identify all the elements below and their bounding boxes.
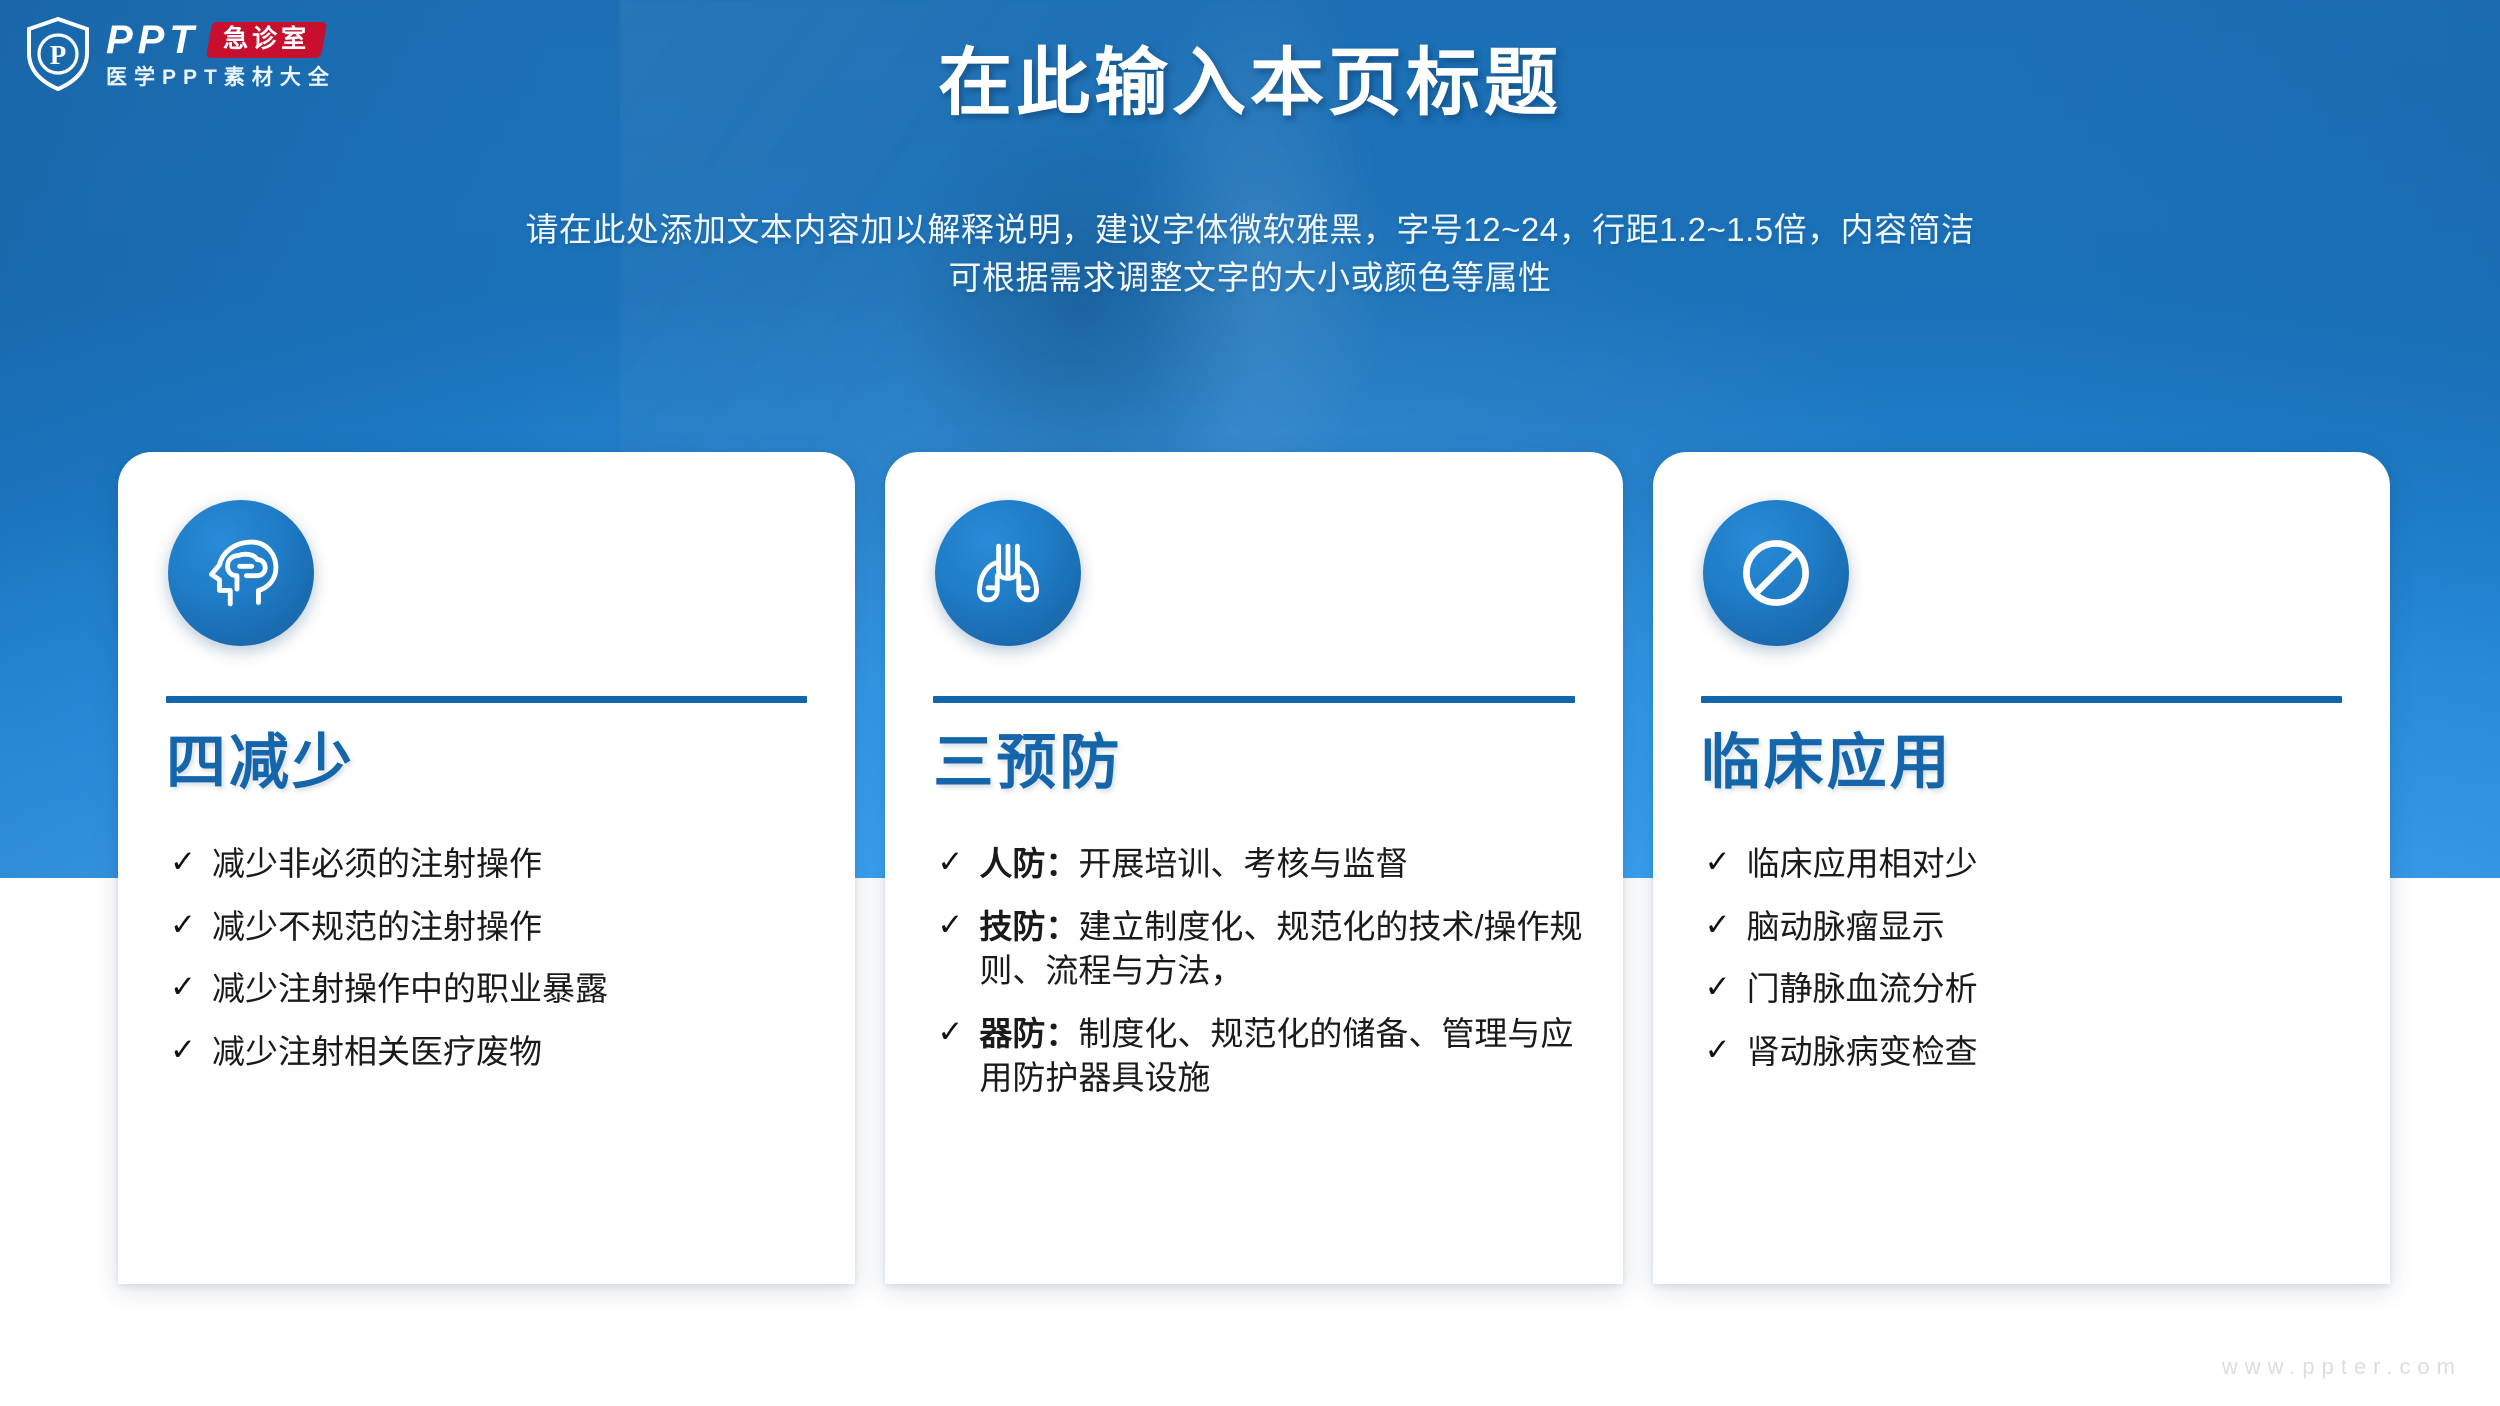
card-divider bbox=[166, 696, 807, 703]
check-icon: ✓ bbox=[937, 842, 979, 884]
check-icon: ✓ bbox=[170, 842, 212, 884]
list-item-label: 人防： bbox=[979, 845, 1078, 882]
check-icon: ✓ bbox=[937, 1012, 979, 1054]
head-brain-icon bbox=[168, 500, 314, 646]
list-item: ✓ 技防：建立制度化、规范化的技术/操作规则、流程与方法， bbox=[937, 905, 1586, 994]
prohibition-icon bbox=[1703, 500, 1849, 646]
lungs-icon bbox=[935, 500, 1081, 646]
list-item-text: 减少注射相关医疗废物 bbox=[212, 1030, 819, 1075]
check-icon: ✓ bbox=[170, 905, 212, 947]
check-icon: ✓ bbox=[1705, 1030, 1747, 1072]
footer-watermark: www.ppter.com bbox=[2222, 1354, 2462, 1380]
list-item: ✓ 减少注射相关医疗废物 bbox=[170, 1030, 819, 1075]
list-item-text: 脑动脉瘤显示 bbox=[1747, 905, 2354, 950]
check-icon: ✓ bbox=[170, 967, 212, 1009]
list-item-text: 减少注射操作中的职业暴露 bbox=[212, 967, 819, 1012]
list-item-label: 器防： bbox=[979, 1015, 1078, 1052]
card-divider bbox=[1701, 696, 2342, 703]
card-list: ✓ 人防：开展培训、考核与监督 ✓ 技防：建立制度化、规范化的技术/操作规则、流… bbox=[937, 842, 1586, 1119]
list-item: ✓ 脑动脉瘤显示 bbox=[1705, 905, 2354, 950]
list-item: ✓ 门静脉血流分析 bbox=[1705, 967, 2354, 1012]
prohibition-glyph bbox=[1733, 530, 1819, 616]
check-icon: ✓ bbox=[170, 1030, 212, 1072]
list-item-text: 人防：开展培训、考核与监督 bbox=[979, 842, 1586, 887]
subtitle-line-1: 请在此处添加文本内容加以解释说明，建议字体微软雅黑，字号12~24，行距1.2~… bbox=[0, 206, 2500, 254]
card-heading: 四减少 bbox=[166, 728, 355, 797]
card-2[interactable]: 三预防 ✓ 人防：开展培训、考核与监督 ✓ 技防：建立制度化、规范化的技术/操作… bbox=[885, 452, 1622, 1284]
list-item-text: 肾动脉病变检查 bbox=[1747, 1030, 2354, 1075]
list-item-text: 减少不规范的注射操作 bbox=[212, 905, 819, 950]
check-icon: ✓ bbox=[1705, 905, 1747, 947]
list-item: ✓ 减少非必须的注射操作 bbox=[170, 842, 819, 887]
check-icon: ✓ bbox=[1705, 842, 1747, 884]
page-subtitle: 请在此处添加文本内容加以解释说明，建议字体微软雅黑，字号12~24，行距1.2~… bbox=[0, 206, 2500, 302]
list-item-text: 门静脉血流分析 bbox=[1747, 967, 2354, 1012]
list-item: ✓ 器防：制度化、规范化的储备、管理与应用防护器具设施 bbox=[937, 1012, 1586, 1101]
card-divider bbox=[933, 696, 1574, 703]
list-item-text: 器防：制度化、规范化的储备、管理与应用防护器具设施 bbox=[979, 1012, 1586, 1101]
check-icon: ✓ bbox=[937, 905, 979, 947]
list-item: ✓ 减少注射操作中的职业暴露 bbox=[170, 967, 819, 1012]
list-item-text: 临床应用相对少 bbox=[1747, 842, 2354, 887]
list-item-text: 技防：建立制度化、规范化的技术/操作规则、流程与方法， bbox=[979, 905, 1586, 994]
list-item-body: 开展培训、考核与监督 bbox=[1078, 845, 1408, 882]
card-1[interactable]: 四减少 ✓ 减少非必须的注射操作 ✓ 减少不规范的注射操作 ✓ 减少注射操作中的… bbox=[118, 452, 855, 1284]
list-item: ✓ 人防：开展培训、考核与监督 bbox=[937, 842, 1586, 887]
card-3[interactable]: 临床应用 ✓ 临床应用相对少 ✓ 脑动脉瘤显示 ✓ 门静脉血流分析 ✓ 肾动脉病… bbox=[1653, 452, 2390, 1284]
list-item: ✓ 减少不规范的注射操作 bbox=[170, 905, 819, 950]
list-item-text: 减少非必须的注射操作 bbox=[212, 842, 819, 887]
head-brain-glyph bbox=[198, 530, 284, 616]
card-heading: 三预防 bbox=[933, 728, 1122, 797]
card-heading: 临床应用 bbox=[1701, 728, 1953, 797]
card-list: ✓ 临床应用相对少 ✓ 脑动脉瘤显示 ✓ 门静脉血流分析 ✓ 肾动脉病变检查 bbox=[1705, 842, 2354, 1092]
lungs-glyph bbox=[965, 530, 1051, 616]
slide-root: P PPT 急诊室 医学PPT素材大全 在此输入本页标题 请在此处添加文本内容加… bbox=[0, 0, 2500, 1406]
list-item: ✓ 肾动脉病变检查 bbox=[1705, 1030, 2354, 1075]
list-item-label: 技防： bbox=[979, 908, 1078, 945]
check-icon: ✓ bbox=[1705, 967, 1747, 1009]
card-group: 四减少 ✓ 减少非必须的注射操作 ✓ 减少不规范的注射操作 ✓ 减少注射操作中的… bbox=[118, 452, 2390, 1284]
subtitle-line-2: 可根据需求调整文字的大小或颜色等属性 bbox=[0, 254, 2500, 302]
list-item: ✓ 临床应用相对少 bbox=[1705, 842, 2354, 887]
page-title: 在此输入本页标题 bbox=[0, 42, 2500, 123]
card-list: ✓ 减少非必须的注射操作 ✓ 减少不规范的注射操作 ✓ 减少注射操作中的职业暴露… bbox=[170, 842, 819, 1092]
